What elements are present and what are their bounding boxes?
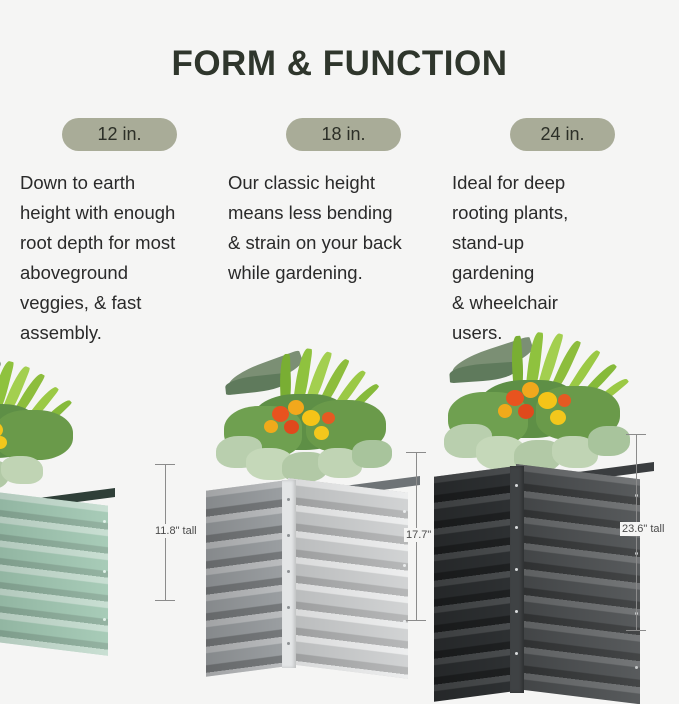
planter-side-panel-18in: [206, 480, 288, 677]
feature-description-18in: Our classic height means less bending & …: [228, 168, 428, 288]
planter-corner-post-18in: [282, 480, 296, 668]
planter-front-panel-12in: [0, 490, 108, 656]
infographic-page: FORM & FUNCTION 12 in. Down to earth hei…: [0, 0, 679, 679]
planter-corner-post-24in: [510, 466, 524, 693]
plant-foliage-12in: [0, 360, 115, 505]
feature-column-18in: 18 in. Our classic height means less ben…: [228, 118, 428, 288]
planter-side-panel-24in: [434, 466, 516, 702]
dimension-label-12in: 11.8" tall: [153, 524, 199, 538]
feature-column-12in: 12 in. Down to earth height with enough …: [20, 118, 220, 348]
feature-column-24in: 24 in. Ideal for deep rooting plants, st…: [452, 118, 652, 348]
feature-description-24in: Ideal for deep rooting plants, stand-up …: [452, 168, 652, 348]
product-photo-stage: 11.8" tall: [0, 330, 679, 679]
dimension-indicator-24in: 23.6" tall: [618, 420, 679, 660]
feature-description-12in: Down to earth height with enough root de…: [20, 168, 220, 348]
dimension-label-24in: 23.6" tall: [620, 522, 666, 536]
page-title: FORM & FUNCTION: [0, 44, 679, 84]
size-badge-24in[interactable]: 24 in.: [510, 118, 615, 151]
size-badge-12in[interactable]: 12 in.: [62, 118, 177, 151]
planter-front-panel-18in: [288, 478, 408, 679]
size-badge-18in[interactable]: 18 in.: [286, 118, 401, 151]
